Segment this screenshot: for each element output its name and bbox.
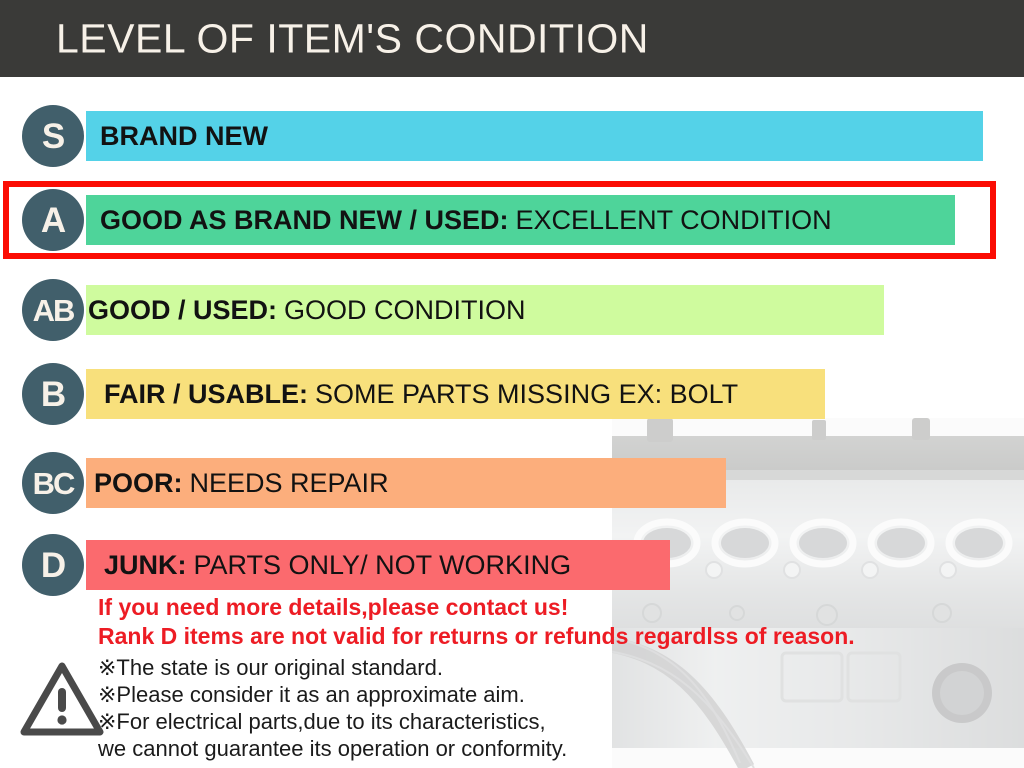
rank-bold-text-d: JUNK: [104, 550, 187, 581]
rank-badge-label-bc: BC [33, 468, 74, 499]
rank-badge-label-b: B [41, 377, 65, 412]
rank-label-s: BRAND NEW [100, 105, 268, 167]
header-bar: LEVEL OF ITEM'S CONDITION [0, 0, 1024, 77]
rank-bold-text-a: GOOD AS BRAND NEW / USED: [100, 205, 509, 236]
note-no-guarantee: we cannot guarantee its operation or con… [98, 736, 567, 762]
rank-normal-text-ab: GOOD CONDITION [284, 295, 526, 326]
rank-label-a: GOOD AS BRAND NEW / USED: EXCELLENT COND… [100, 189, 832, 251]
rank-normal-text-d: PARTS ONLY/ NOT WORKING [194, 550, 572, 581]
rank-row-ab: AB GOOD / USED: GOOD CONDITION [0, 279, 1024, 341]
rank-bold-text-ab: GOOD / USED: [88, 295, 277, 326]
rank-normal-text-b: SOME PARTS MISSING EX: BOLT [315, 379, 738, 410]
rank-badge-b: B [22, 363, 84, 425]
page-title: LEVEL OF ITEM'S CONDITION [56, 15, 649, 62]
rank-row-b: B FAIR / USABLE: SOME PARTS MISSING EX: … [0, 363, 1024, 425]
rank-label-d: JUNK: PARTS ONLY/ NOT WORKING [104, 534, 571, 596]
notice-contact-us: If you need more details,please contact … [98, 594, 568, 621]
rank-bold-text-s: BRAND NEW [100, 121, 268, 152]
rank-row-bc: BC POOR: NEEDS REPAIR [0, 452, 1024, 514]
rank-bold-text-bc: POOR: [94, 468, 183, 499]
rank-row-a: A GOOD AS BRAND NEW / USED: EXCELLENT CO… [0, 189, 1024, 251]
rank-normal-text-a: EXCELLENT CONDITION [516, 205, 832, 236]
rank-label-ab: GOOD / USED: GOOD CONDITION [88, 279, 526, 341]
notice-rank-d-no-returns: Rank D items are not valid for returns o… [98, 623, 855, 650]
note-electrical-parts: ※For electrical parts,due to its charact… [98, 709, 546, 735]
note-approximate-aim: ※Please consider it as an approximate ai… [98, 682, 525, 708]
rank-label-b: FAIR / USABLE: SOME PARTS MISSING EX: BO… [104, 363, 738, 425]
rank-badge-a: A [22, 189, 84, 251]
rank-row-d: D JUNK: PARTS ONLY/ NOT WORKING [0, 534, 1024, 596]
rank-badge-d: D [22, 534, 84, 596]
condition-level-infographic: LEVEL OF ITEM'S CONDITION S BRAND NEW A … [0, 0, 1024, 768]
rank-badge-s: S [22, 105, 84, 167]
rank-row-s: S BRAND NEW [0, 105, 1024, 167]
rank-badge-label-s: S [42, 119, 64, 154]
rank-bold-text-b: FAIR / USABLE: [104, 379, 308, 410]
rank-badge-bc: BC [22, 452, 84, 514]
warning-triangle-icon [20, 660, 104, 738]
rank-label-bc: POOR: NEEDS REPAIR [94, 452, 389, 514]
note-original-standard: ※The state is our original standard. [98, 655, 443, 681]
rank-badge-label-a: A [41, 203, 65, 238]
rank-badge-label-d: D [41, 548, 65, 583]
rank-badge-ab: AB [22, 279, 84, 341]
rank-badge-label-ab: AB [33, 295, 74, 326]
rank-normal-text-bc: NEEDS REPAIR [190, 468, 389, 499]
